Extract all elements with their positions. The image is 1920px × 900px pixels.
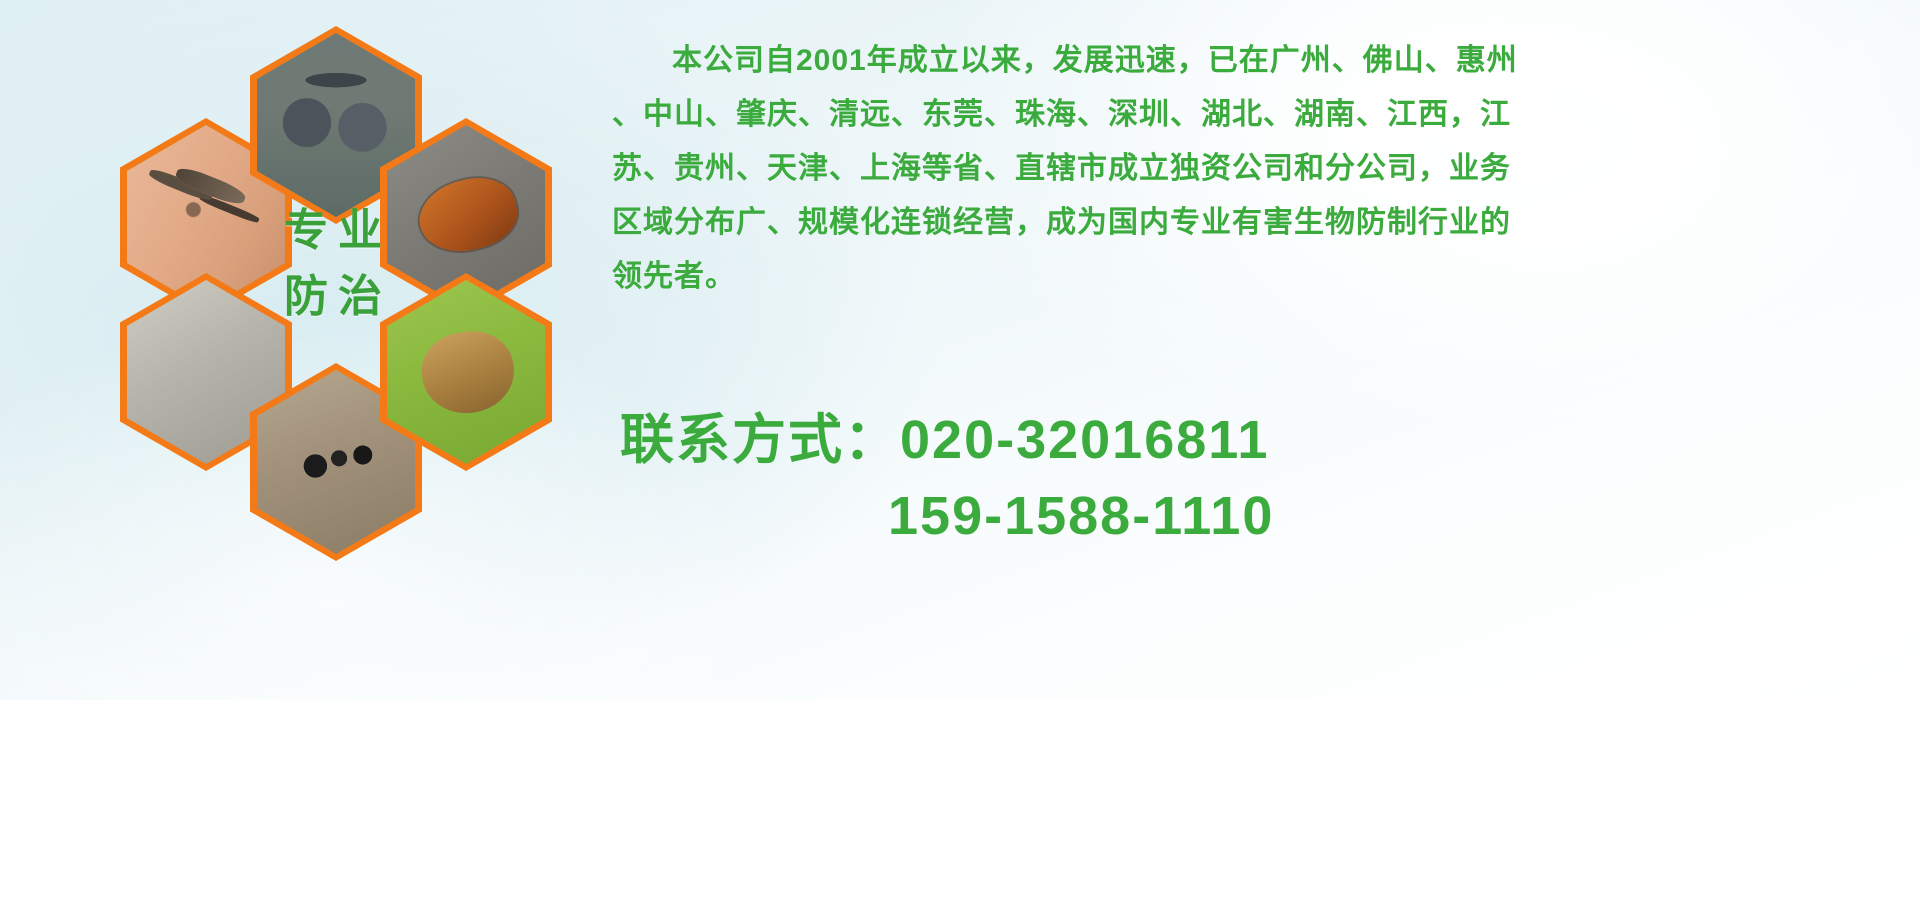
description-line-3: 苏、贵州、天津、上海等省、直辖市成立独资公司和分公司，业务 bbox=[612, 142, 1900, 196]
promo-banner: 专业 防治 本公司自2001年成立以来，发展迅速，已在广州、佛山、惠州 、中山、… bbox=[0, 0, 1920, 700]
description-line-1: 本公司自2001年成立以来，发展迅速，已在广州、佛山、惠州 bbox=[612, 34, 1900, 88]
logo-center-text: 专业 防治 bbox=[250, 198, 426, 330]
description-line-4: 区域分布广、规模化连锁经营，成为国内专业有害生物防制行业的 bbox=[612, 196, 1900, 250]
company-description: 本公司自2001年成立以来，发展迅速，已在广州、佛山、惠州 、中山、肇庆、清远、… bbox=[612, 34, 1900, 304]
description-line-5: 领先者。 bbox=[612, 250, 1900, 304]
logo-center-line-1: 专业 bbox=[250, 198, 426, 264]
hexagon-photo-cluster: 专业 防治 bbox=[80, 8, 600, 568]
contact-phone-landline[interactable]: 联系方式：020-32016811 bbox=[620, 402, 1820, 478]
contact-phone-mobile[interactable]: 159-1588-1110 bbox=[620, 478, 1820, 554]
logo-center-line-2: 防治 bbox=[250, 264, 426, 330]
description-line-2: 、中山、肇庆、清远、东莞、珠海、深圳、湖北、湖南、江西，江 bbox=[612, 88, 1900, 142]
contact-block: 联系方式：020-32016811 159-1588-1110 bbox=[620, 402, 1820, 554]
